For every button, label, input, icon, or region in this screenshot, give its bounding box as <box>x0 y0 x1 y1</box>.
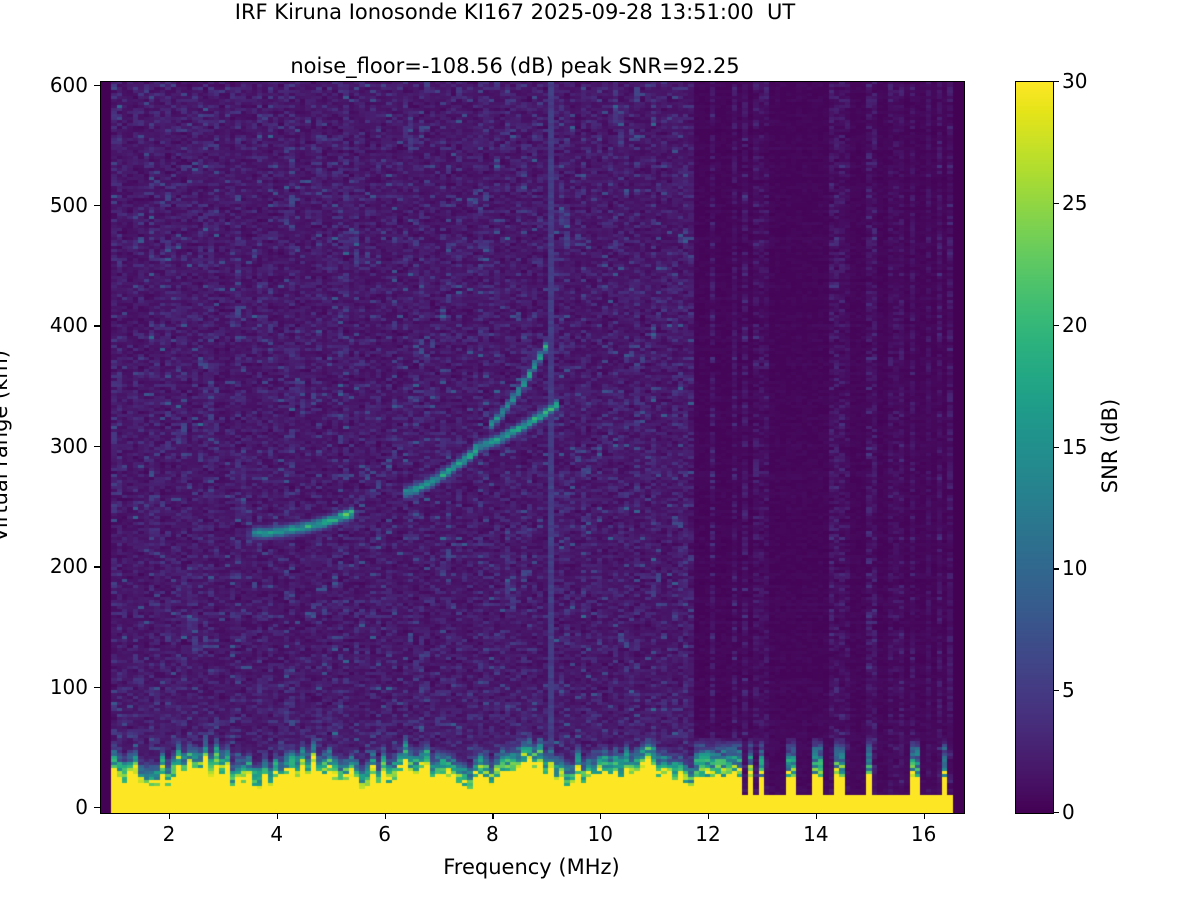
x-axis-label: Frequency (MHz) <box>100 855 963 879</box>
y-tick <box>94 566 100 567</box>
chart-title-line2: noise_floor=-108.56 (dB) peak SNR=92.25 <box>0 54 1030 78</box>
ionogram-plot-area[interactable] <box>100 81 965 814</box>
colorbar-tick-label: 25 <box>1062 191 1087 215</box>
colorbar-tick-label: 30 <box>1062 69 1087 93</box>
colorbar-tick <box>1054 568 1059 569</box>
y-tick-label: 400 <box>50 313 88 337</box>
x-tick <box>600 813 601 819</box>
x-tick <box>816 813 817 819</box>
y-tick <box>94 85 100 86</box>
x-tick-label: 2 <box>163 822 176 846</box>
colorbar-tick-label: 0 <box>1062 800 1075 824</box>
colorbar[interactable] <box>1015 81 1054 814</box>
x-tick-label: 6 <box>378 822 391 846</box>
colorbar-tick <box>1054 203 1059 204</box>
x-tick <box>385 813 386 819</box>
colorbar-gradient <box>1016 82 1053 813</box>
y-tick-label: 100 <box>50 675 88 699</box>
colorbar-tick <box>1054 81 1059 82</box>
y-tick <box>94 446 100 447</box>
colorbar-tick-label: 10 <box>1062 556 1087 580</box>
x-tick-label: 16 <box>911 822 936 846</box>
y-tick <box>94 205 100 206</box>
x-tick <box>169 813 170 819</box>
y-tick <box>94 325 100 326</box>
colorbar-tick-label: 15 <box>1062 435 1087 459</box>
y-axis-label: Virtual range (km) <box>0 246 12 646</box>
colorbar-tick-label: 20 <box>1062 313 1087 337</box>
chart-title-line1: IRF Kiruna Ionosonde KI167 2025-09-28 13… <box>0 0 1030 24</box>
colorbar-tick-label: 5 <box>1062 678 1075 702</box>
ionogram-heatmap <box>101 82 964 813</box>
x-tick-label: 14 <box>803 822 828 846</box>
y-tick <box>94 807 100 808</box>
y-tick-label: 600 <box>50 73 88 97</box>
y-tick <box>94 687 100 688</box>
colorbar-tick <box>1054 325 1059 326</box>
y-tick-label: 300 <box>50 434 88 458</box>
colorbar-tick <box>1054 812 1059 813</box>
x-tick <box>708 813 709 819</box>
y-tick-label: 500 <box>50 193 88 217</box>
x-tick-label: 8 <box>486 822 499 846</box>
colorbar-label: SNR (dB) <box>1098 296 1122 596</box>
x-tick-label: 4 <box>270 822 283 846</box>
colorbar-tick <box>1054 447 1059 448</box>
x-tick <box>924 813 925 819</box>
x-tick <box>492 813 493 819</box>
y-tick-label: 0 <box>75 795 88 819</box>
x-tick-label: 10 <box>587 822 612 846</box>
colorbar-tick <box>1054 690 1059 691</box>
y-tick-label: 200 <box>50 554 88 578</box>
x-tick-label: 12 <box>695 822 720 846</box>
x-tick <box>277 813 278 819</box>
